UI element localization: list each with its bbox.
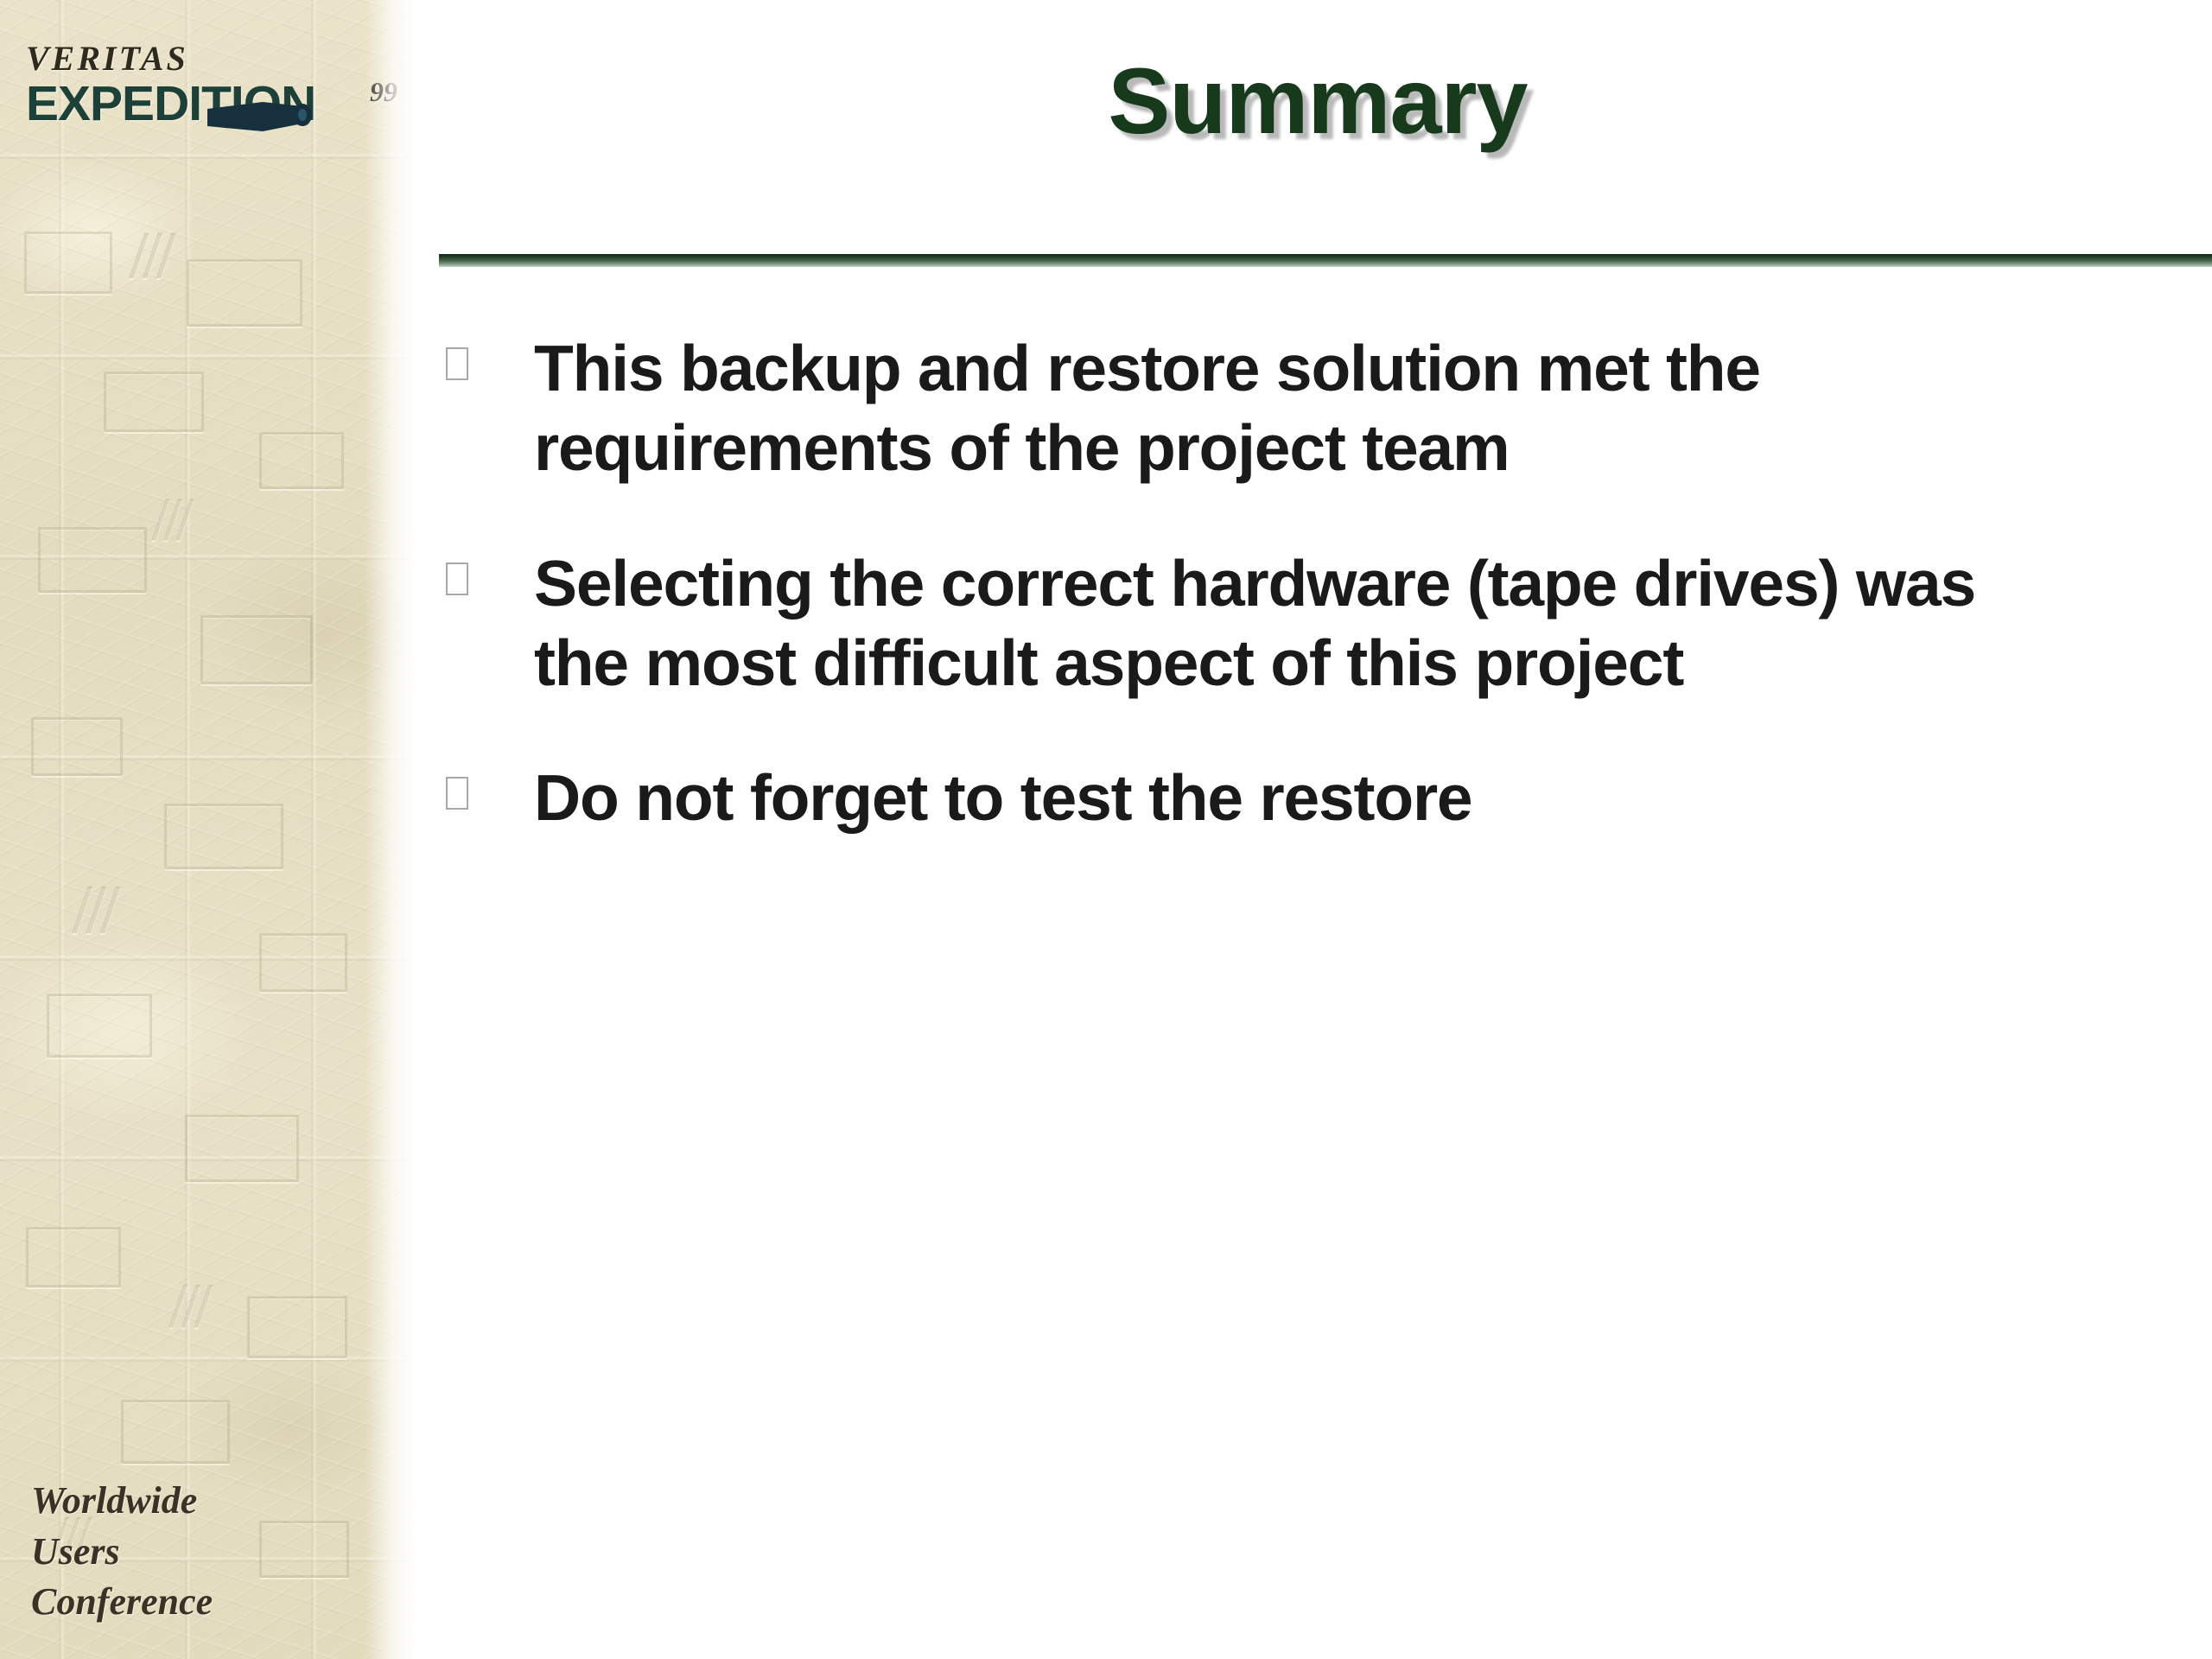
decorative-motif (187, 259, 302, 327)
decorative-motif (259, 933, 347, 992)
decorative-motif: /// (169, 1270, 207, 1344)
decorative-motif: /// (73, 871, 115, 950)
logo-brand-text: VERITAS (26, 41, 397, 76)
empty-box-bullet-icon (446, 777, 468, 810)
decorative-motif (185, 1115, 299, 1182)
decorative-motif (31, 717, 123, 776)
decorative-motif (38, 527, 147, 593)
decorative-motif: /// (152, 484, 188, 556)
empty-box-bullet-icon (446, 347, 468, 380)
footer-line-2: Users (31, 1527, 213, 1578)
decorative-motif (200, 615, 313, 684)
list-item: Selecting the correct hardware (tape dri… (446, 543, 2139, 703)
slide-title: Summary (423, 50, 2212, 153)
list-item-text: This backup and restore solution met the… (534, 328, 2081, 488)
decorative-motif (259, 432, 344, 489)
list-item: Do not forget to test the restore (446, 758, 2139, 837)
sidebar-edge-fade (365, 0, 416, 1659)
footer-line-1: Worldwide (31, 1476, 213, 1527)
title-divider-rule (439, 254, 2212, 267)
decorative-motif (104, 372, 204, 432)
presentation-slide: /// /// /// /// /// VERITAS EXPEDITION 9… (0, 0, 2212, 1659)
slide-body-bullet-list: This backup and restore solution met the… (446, 328, 2139, 893)
list-item-text: Selecting the correct hardware (tape dri… (534, 543, 2081, 703)
empty-box-bullet-icon (446, 563, 468, 595)
decorative-motif (24, 232, 112, 294)
footer-line-3: Conference (31, 1577, 213, 1628)
decorative-motif (247, 1296, 347, 1358)
logo-product-row: EXPEDITION 99 (26, 79, 397, 133)
decorative-motif (259, 1521, 349, 1578)
decorative-motif (47, 994, 152, 1058)
slide-sidebar: /// /// /// /// /// VERITAS EXPEDITION 9… (0, 0, 416, 1659)
decorative-motif (164, 804, 283, 869)
decorative-motif: /// (130, 216, 170, 294)
logo-product-text: EXPEDITION (26, 79, 315, 129)
conference-footer: Worldwide Users Conference (31, 1476, 213, 1628)
list-item-text: Do not forget to test the restore (534, 758, 2081, 837)
decorative-motif (121, 1400, 230, 1464)
decorative-motif (26, 1227, 121, 1287)
list-item: This backup and restore solution met the… (446, 328, 2139, 488)
veritas-expedition-logo: VERITAS EXPEDITION 99 (26, 41, 397, 133)
